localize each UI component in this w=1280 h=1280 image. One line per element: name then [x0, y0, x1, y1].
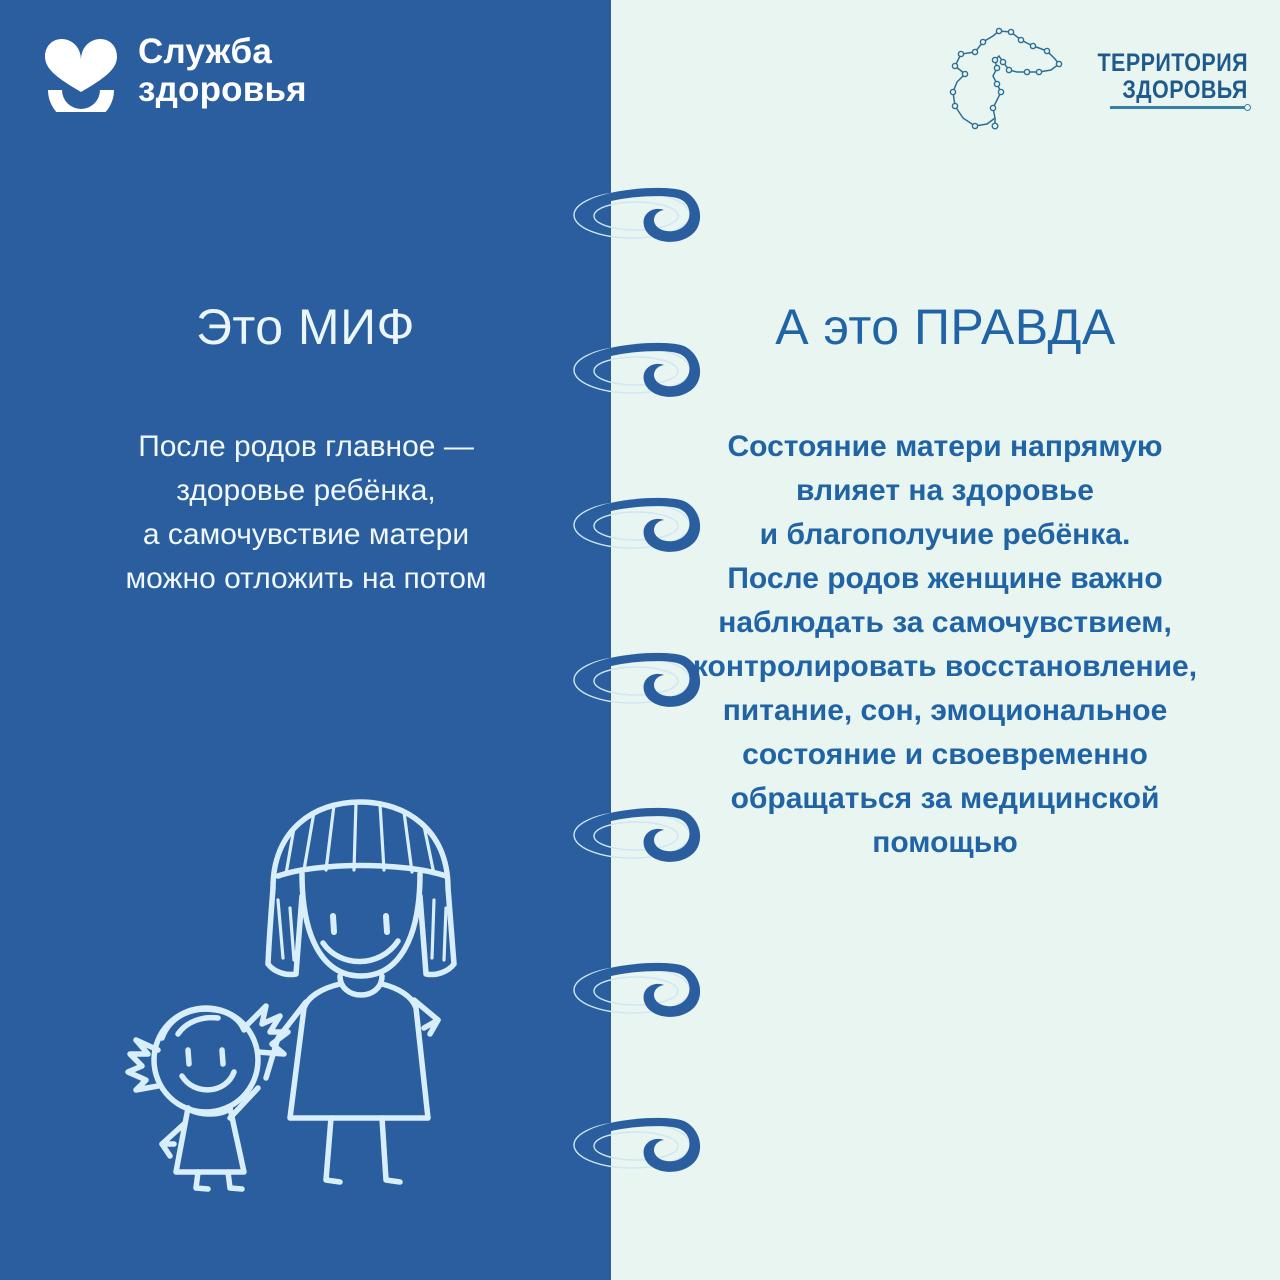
heart-smile-icon — [42, 30, 120, 112]
myth-line: здоровье ребёнка, — [36, 469, 576, 513]
truth-heading: А это ПРАВДА — [611, 298, 1280, 356]
dotted-map-outline-icon — [947, 26, 1067, 138]
brand-right-underline — [1110, 106, 1248, 109]
myth-body-text: После родов главное — здоровье ребёнка, … — [36, 425, 576, 601]
truth-line: помощью — [645, 821, 1245, 865]
truth-line: влияет на здоровье — [645, 469, 1245, 513]
mother-and-daughter-doodle — [118, 788, 508, 1193]
myth-line: После родов главное — — [36, 425, 576, 469]
brand-right-titles: ТЕРРИТОРИЯ ЗДОРОВЬЯ — [1073, 26, 1248, 109]
infographic-poster: Служба здоровья — [0, 0, 1280, 1280]
truth-line: питание, сон, эмоциональное — [645, 689, 1245, 733]
brand-right-line1: ТЕРРИТОРИЯ — [1098, 50, 1248, 77]
truth-line: контролировать восстановление, — [645, 645, 1245, 689]
truth-line: Состояние матери напрямую — [645, 425, 1245, 469]
myth-line: а самочувствие матери — [36, 513, 576, 557]
truth-line: и благополучие ребёнка. — [645, 513, 1245, 557]
truth-body-text: Состояние матери напрямую влияет на здор… — [645, 425, 1245, 865]
brand-logo-territoriya-zdorovya: ТЕРРИТОРИЯ ЗДОРОВЬЯ — [947, 26, 1248, 138]
myth-heading: Это МИФ — [0, 298, 611, 356]
truth-line: наблюдать за самочувствием, — [645, 601, 1245, 645]
brand-right-line2: ЗДОРОВЬЯ — [1123, 77, 1248, 104]
brand-logo-sluzhba-zdorovya: Служба здоровья — [42, 30, 307, 112]
truth-line: После родов женщине важно — [645, 557, 1245, 601]
truth-line: обращаться за медицинской — [645, 777, 1245, 821]
myth-line: можно отложить на потом — [36, 557, 576, 601]
truth-line: состояние и своевременно — [645, 733, 1245, 777]
brand-left-wordmark: Служба здоровья — [138, 33, 307, 109]
